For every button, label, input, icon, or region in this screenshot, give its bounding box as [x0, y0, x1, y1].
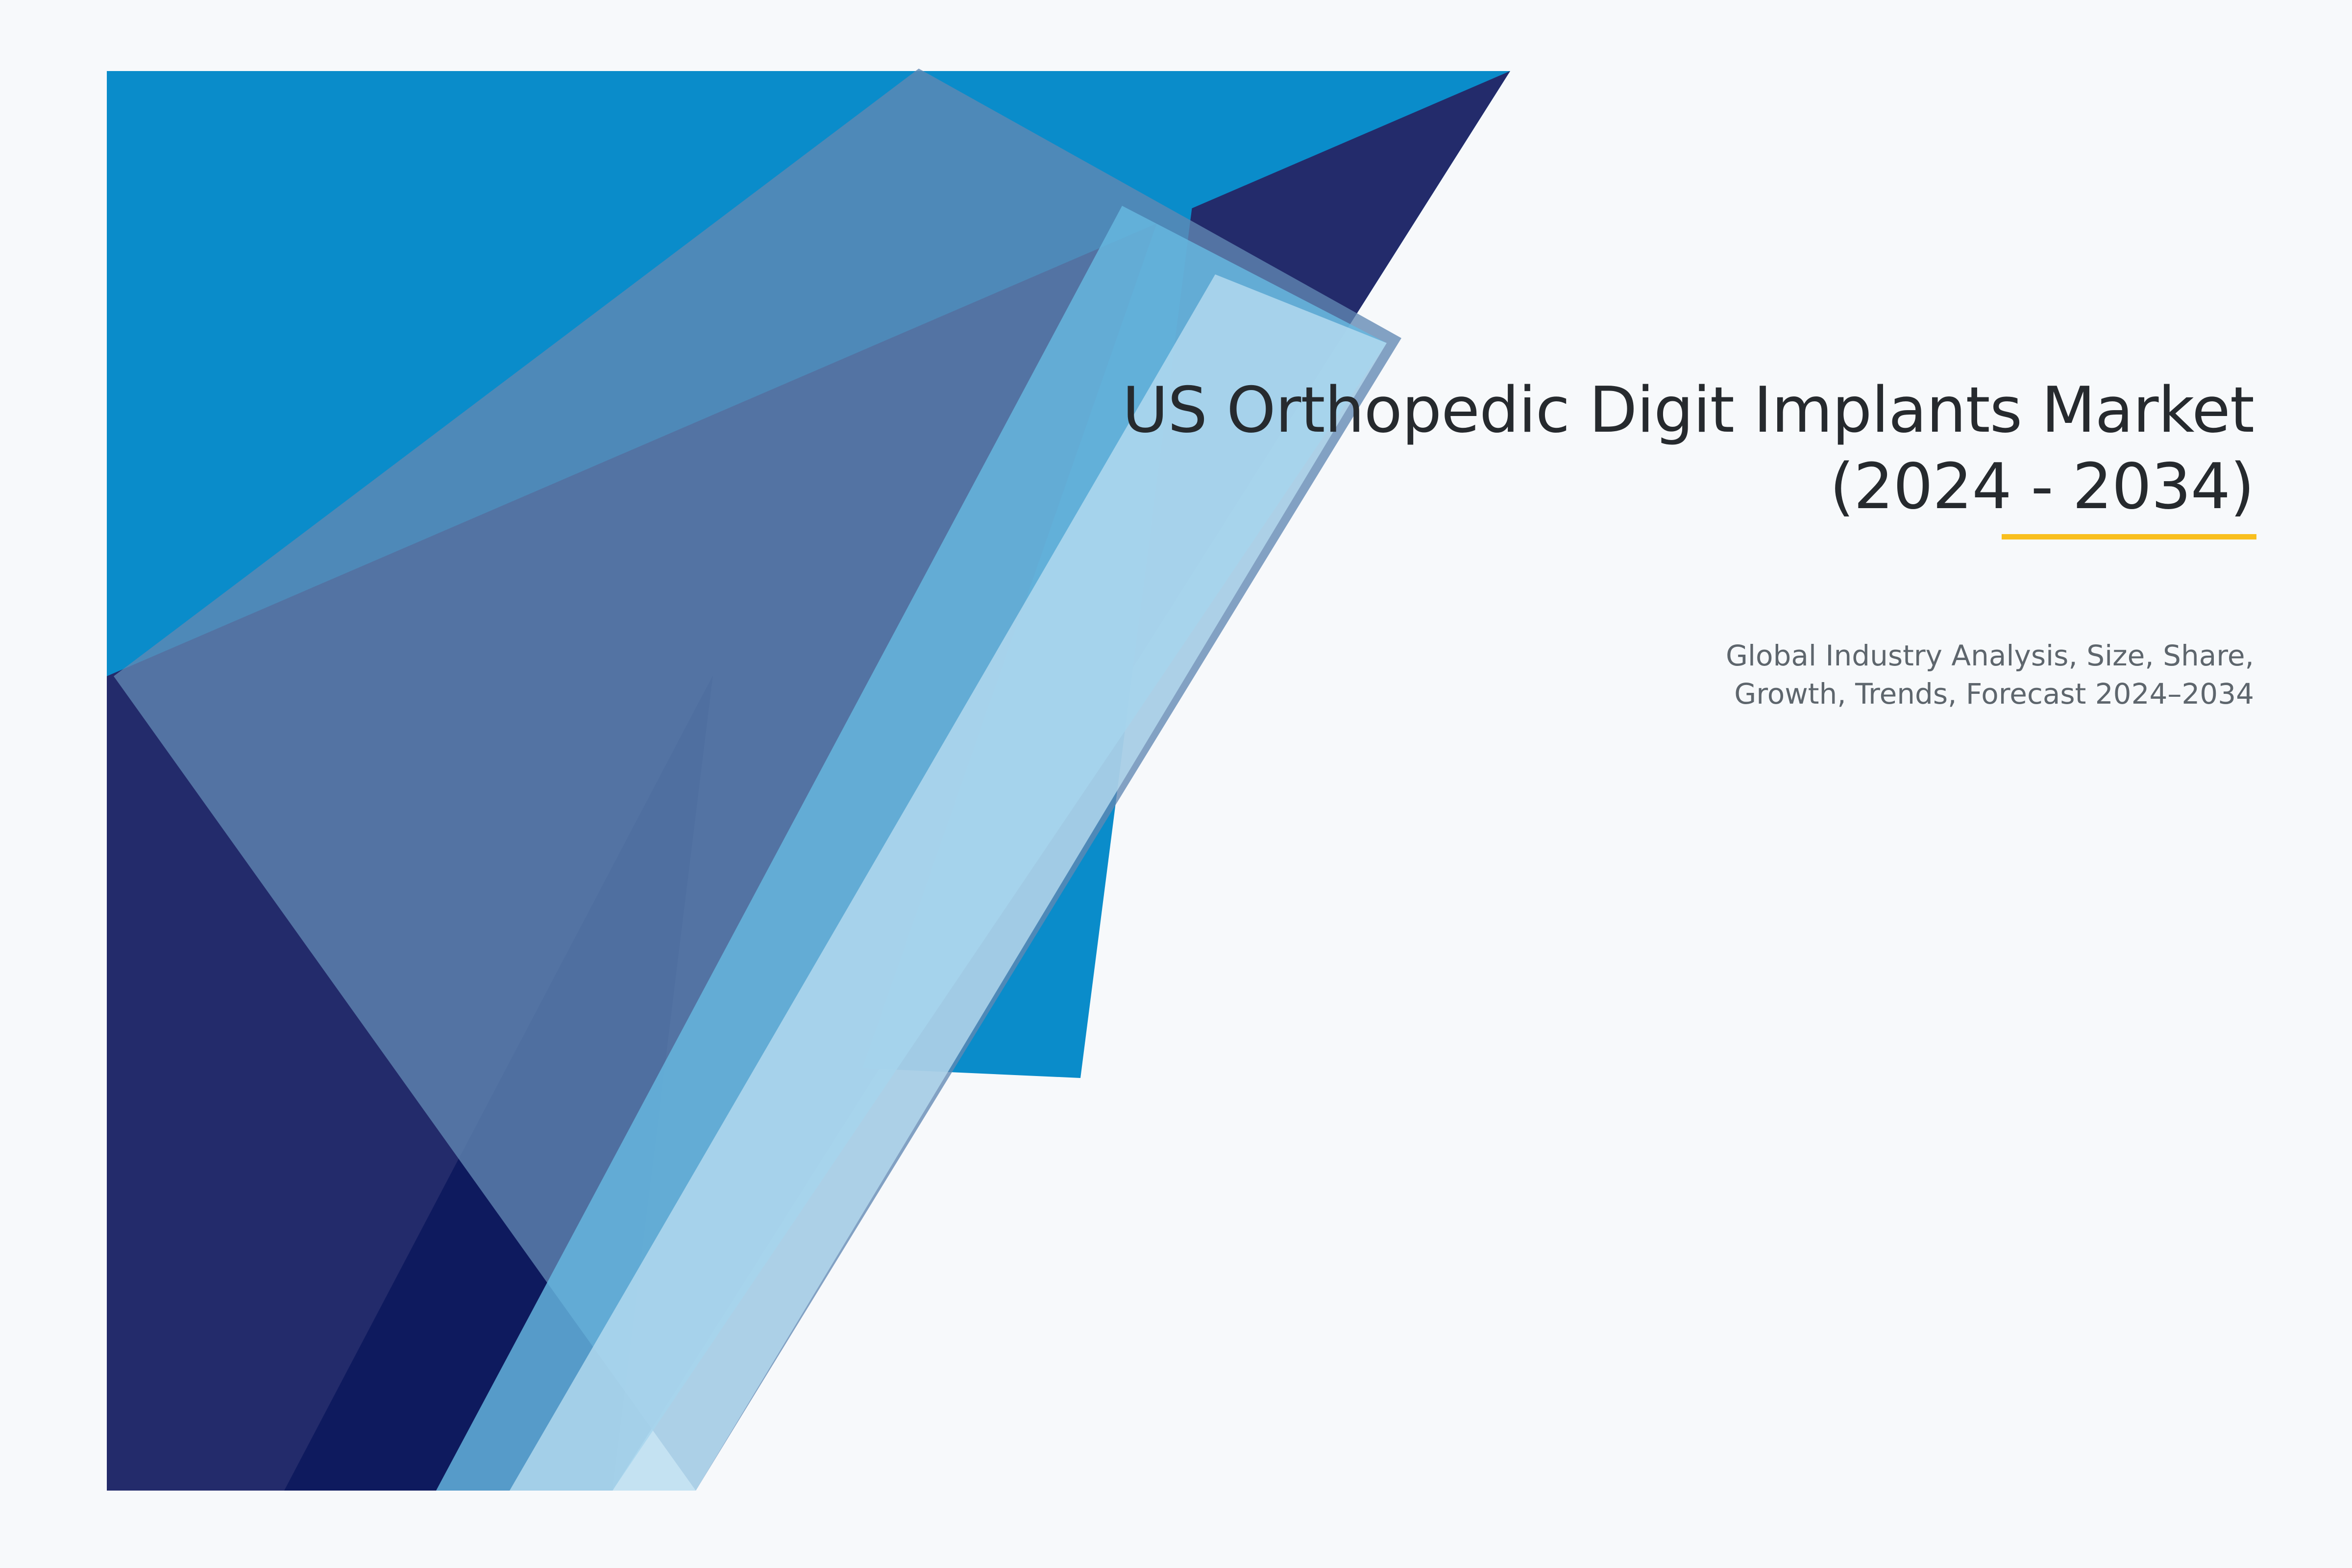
- page-title: US Orthopedic Digit Implants Market (202…: [774, 372, 2254, 525]
- abstract-geometric-banner: [0, 0, 2352, 1568]
- page-subtitle: Global Industry Analysis, Size, Share, G…: [774, 525, 2254, 713]
- cover-text-block: US Orthopedic Digit Implants Market (202…: [774, 372, 2254, 713]
- report-cover-page: US Orthopedic Digit Implants Market (202…: [0, 0, 2352, 1568]
